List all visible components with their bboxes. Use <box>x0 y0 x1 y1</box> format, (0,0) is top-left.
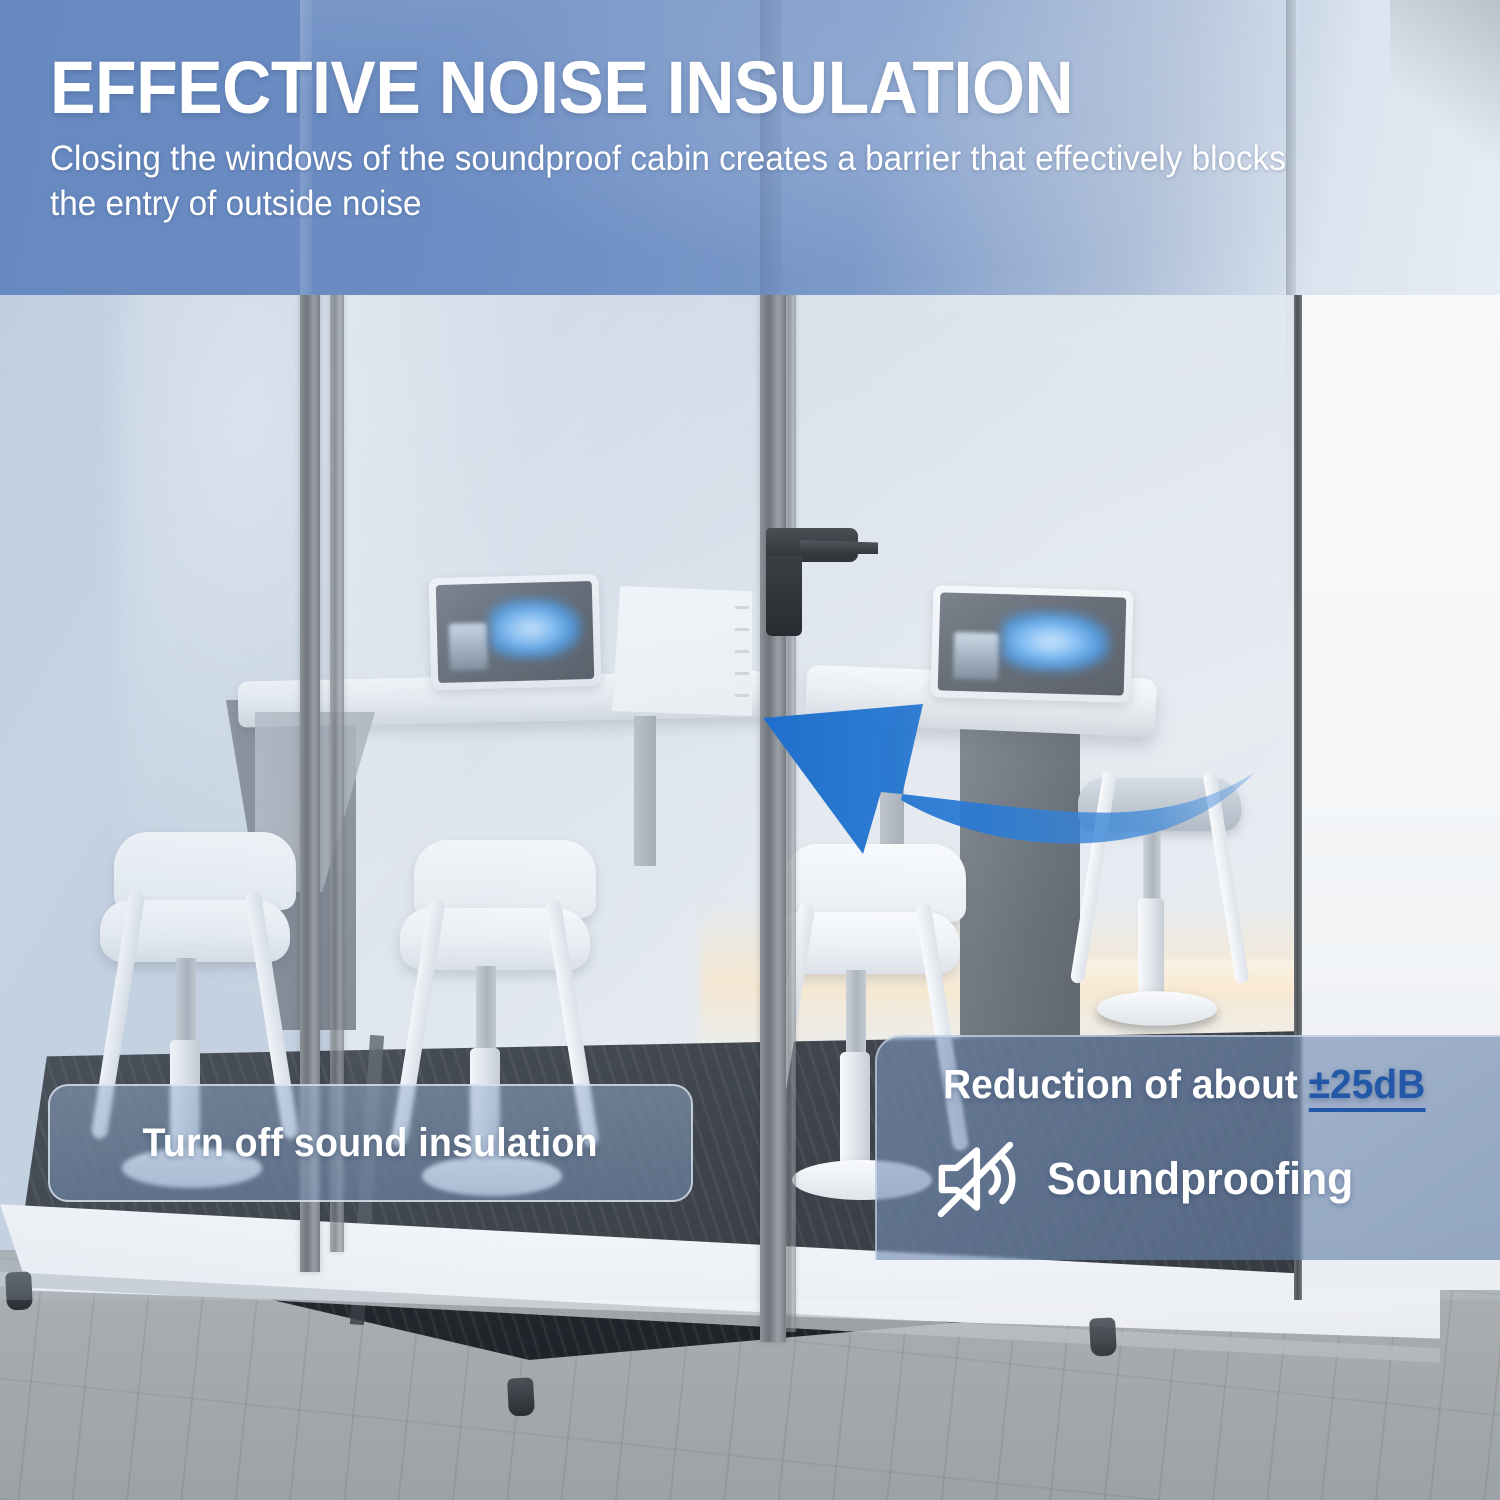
divider-slots <box>735 606 749 711</box>
caster-wheel <box>5 1271 33 1310</box>
soundproofing-badge[interactable]: Reduction of about ±25dB Soundproofing <box>875 1035 1500 1260</box>
page-subtitle: Closing the windows of the soundproof ca… <box>50 137 1314 227</box>
stool-4-base <box>1097 991 1217 1025</box>
laptop-right-lid <box>930 585 1133 703</box>
speaker-mute-icon <box>929 1133 1021 1225</box>
caster-wheel <box>1089 1317 1117 1356</box>
caster-wheel <box>507 1377 535 1416</box>
page-title: EFFECTIVE NOISE INSULATION <box>50 52 1274 123</box>
soundproofing-label: Soundproofing <box>1047 1153 1353 1205</box>
stool-3-piston <box>840 1052 870 1170</box>
laptop-right <box>930 585 1133 703</box>
turn-off-sound-insulation-badge[interactable]: Turn off sound insulation <box>48 1084 693 1202</box>
turn-off-sound-insulation-label: Turn off sound insulation <box>143 1121 598 1166</box>
noise-reduction-prefix: Reduction of about <box>943 1061 1309 1107</box>
laptop-left-screen <box>436 581 595 683</box>
product-feature-image: EFFECTIVE NOISE INSULATION Closing the w… <box>0 0 1500 1500</box>
soundproofing-row: Soundproofing <box>929 1133 1369 1225</box>
noise-reduction-value: ±25dB <box>1309 1061 1426 1112</box>
laptop-right-screen <box>938 592 1127 695</box>
noise-reduction-line: Reduction of about ±25dB <box>943 1061 1425 1108</box>
header-corner-bevel <box>1390 0 1500 250</box>
header-text-block: EFFECTIVE NOISE INSULATION Closing the w… <box>50 52 1380 227</box>
privacy-divider <box>612 586 752 716</box>
laptop-left <box>429 574 602 690</box>
stool-4-piston <box>1138 898 1164 999</box>
laptop-left-lid <box>429 574 602 690</box>
door-latch-body <box>766 556 802 636</box>
right-structural-column <box>960 700 1080 1070</box>
header-banner: EFFECTIVE NOISE INSULATION Closing the w… <box>0 0 1500 295</box>
desk-left-leg <box>634 716 656 866</box>
frame-post-center <box>760 292 786 1342</box>
frame-post-center-inner <box>786 292 796 1332</box>
